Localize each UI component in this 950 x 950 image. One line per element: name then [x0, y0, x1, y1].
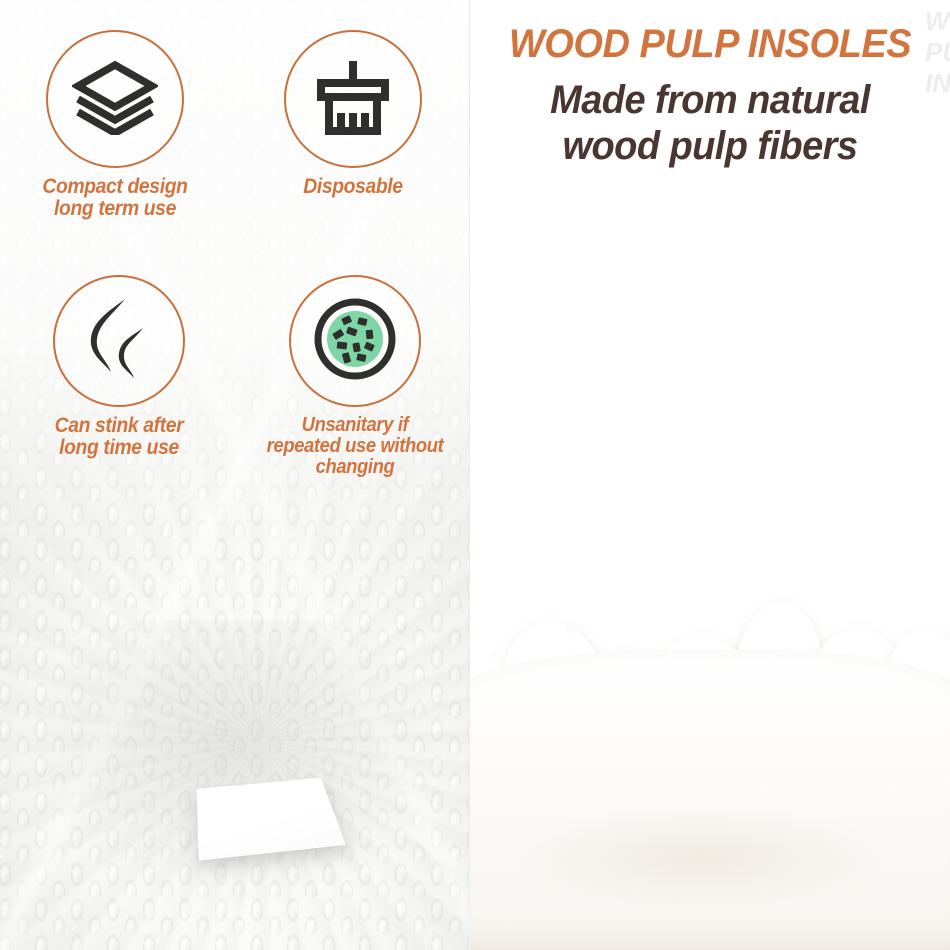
- splash-droplet: [566, 623, 574, 634]
- feature-icon-circle: [284, 30, 422, 168]
- feature-disposable: Disposable: [248, 30, 458, 198]
- flame-icon: [81, 296, 157, 387]
- feature-icon-grid: Compact design long term use: [0, 0, 470, 540]
- page-title: WOOD PULP INSOLES: [482, 24, 938, 64]
- feature-caption: Unsanitary if repeated use without chang…: [249, 415, 461, 479]
- milk-pool: [470, 650, 950, 950]
- feature-unsanitary: Unsanitary if repeated use without chang…: [240, 275, 470, 479]
- feature-compact-design: Compact design long term use: [10, 30, 220, 221]
- broom-icon: [311, 55, 395, 144]
- subtitle-line-2: wood pulp fibers: [482, 124, 938, 170]
- feature-can-stink: Can stink after long time use: [14, 275, 224, 460]
- splash-droplet: [600, 648, 607, 658]
- hero-text-panel: WOOD PULP INSOLES WOOD PULP INSOLES Made…: [470, 0, 950, 950]
- page-subtitle: Made from natural wood pulp fibers: [482, 78, 938, 169]
- feature-icon-circle: [46, 30, 184, 168]
- splash-droplet: [490, 651, 498, 662]
- milk-splash: [470, 590, 950, 950]
- feature-caption: Compact design long term use: [18, 176, 211, 221]
- feature-caption: Can stink after long time use: [22, 415, 215, 460]
- subtitle-line-1: Made from natural: [482, 78, 938, 124]
- layers-icon: [72, 59, 158, 140]
- feature-icon-circle: [53, 275, 185, 407]
- feature-caption: Disposable: [256, 176, 449, 198]
- petri-dish-bacteria-icon: [313, 297, 397, 386]
- product-infographic: Compact design long term use: [0, 0, 950, 950]
- feature-icon-circle: [289, 275, 421, 407]
- splash-droplet: [470, 632, 471, 644]
- insole-photo-panel: Compact design long term use: [0, 0, 470, 950]
